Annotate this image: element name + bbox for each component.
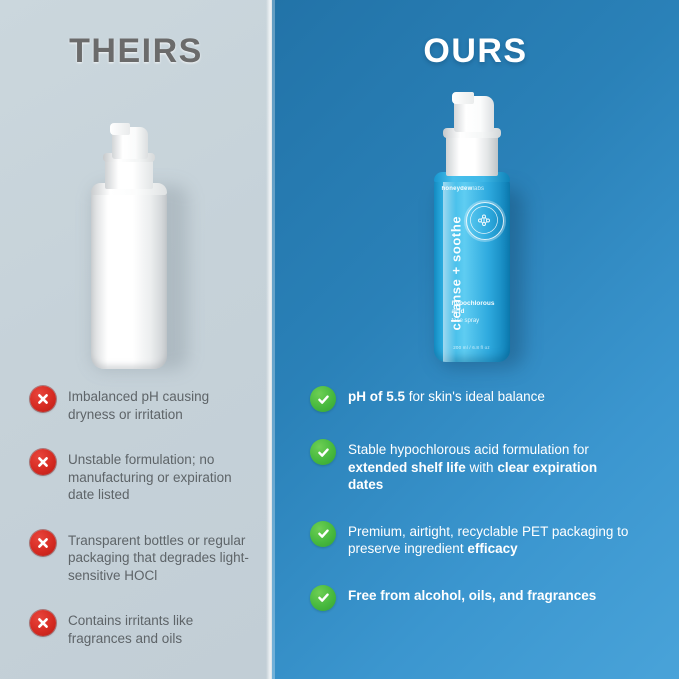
bottle-description-main: hypochlorous acid (452, 300, 504, 316)
list-item: Premium, airtight, recyclable PET packag… (310, 521, 649, 558)
list-item-label: Imbalanced pH causing dryness or irritat… (68, 386, 250, 423)
check-mark-icon (310, 521, 336, 547)
list-item: pH of 5.5 for skin's ideal balance (310, 386, 649, 412)
theirs-panel: THEIRS Imbalanced pH causing dryness or … (0, 0, 272, 679)
list-item: Transparent bottles or regular packaging… (30, 530, 250, 585)
segment-emphasis: extended shelf life (348, 460, 466, 475)
list-item-label: Stable hypochlorous acid formulation for… (348, 439, 632, 494)
check-mark-icon (310, 439, 336, 465)
list-item-label: Unstable formulation; no manufacturing o… (68, 449, 250, 504)
list-item-label: Free from alcohol, oils, and fragrances (348, 585, 596, 605)
bottle-brand-name: honeydewlabs (442, 186, 485, 192)
list-item-label: Premium, airtight, recyclable PET packag… (348, 521, 632, 558)
ours-heading: OURS (272, 32, 679, 71)
bottle-volume-text: 200 ml / 6.8 fl oz (434, 345, 510, 350)
x-mark-icon (30, 386, 56, 412)
comparison-infographic: THEIRS Imbalanced pH causing dryness or … (0, 0, 679, 679)
brand-suffix: labs (472, 186, 484, 192)
bottle-description-sub: face spray (452, 318, 504, 324)
blue-bottle-body: honeydewlabs cleanse + soothe (434, 176, 510, 362)
segment-emphasis: efficacy (467, 541, 517, 556)
list-item: Imbalanced pH causing dryness or irritat… (30, 386, 250, 423)
check-mark-icon (310, 386, 336, 412)
list-item-rest: for skin's ideal balance (405, 389, 545, 404)
theirs-heading: THEIRS (0, 32, 272, 71)
check-mark-icon (310, 585, 336, 611)
list-item: Contains irritants like fragrances and o… (30, 610, 250, 647)
ours-panel: OURS honeydewlabs cleanse + soothe (272, 0, 679, 679)
bottle-purity-badge-icon (466, 202, 504, 240)
bottle-description: hypochlorous acid face spray (452, 300, 504, 324)
list-item-emphasis: pH of 5.5 (348, 389, 405, 404)
list-item: Stable hypochlorous acid formulation for… (310, 439, 649, 494)
blue-bottle-spray-tip (452, 92, 474, 104)
x-mark-icon (30, 610, 56, 636)
list-item: Unstable formulation; no manufacturing o… (30, 449, 250, 504)
list-item: Free from alcohol, oils, and fragrances (310, 585, 649, 611)
list-item-label: pH of 5.5 for skin's ideal balance (348, 386, 545, 406)
segment: Stable hypochlorous acid formulation for (348, 442, 589, 457)
list-item-label: Transparent bottles or regular packaging… (68, 530, 250, 585)
competitor-white-bottle-image (88, 115, 184, 370)
x-mark-icon (30, 530, 56, 556)
white-bottle-spray-tip (110, 123, 130, 135)
x-mark-icon (30, 449, 56, 475)
blue-bottle-neck (446, 134, 498, 176)
theirs-bullet-list: Imbalanced pH causing dryness or irritat… (0, 386, 272, 673)
segment: with (466, 460, 498, 475)
brand-word: honeydew (442, 186, 473, 192)
list-item-label: Contains irritants like fragrances and o… (68, 610, 250, 647)
our-blue-bottle-image: honeydewlabs cleanse + soothe (416, 88, 536, 373)
white-bottle-body (91, 187, 167, 369)
ours-bullet-list: pH of 5.5 for skin's ideal balance Stabl… (272, 386, 679, 638)
